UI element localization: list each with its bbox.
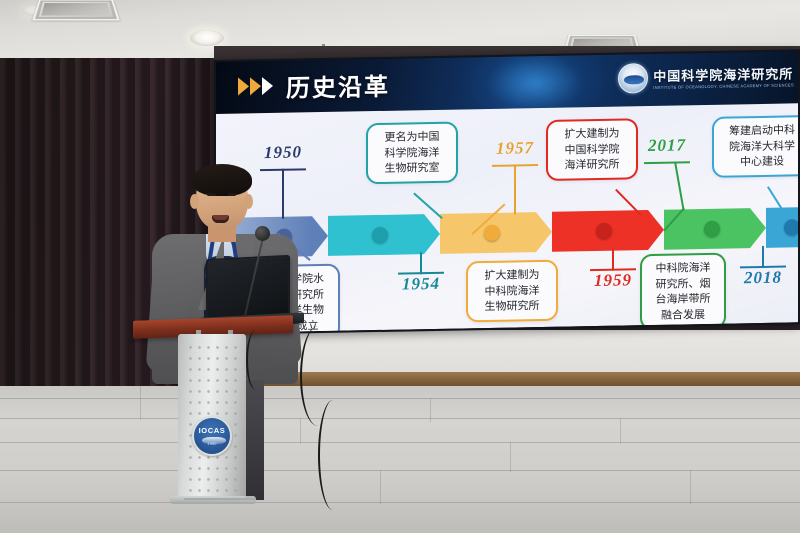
year-label-1957: 1957	[496, 138, 534, 159]
floor	[0, 386, 800, 533]
downlight	[190, 30, 224, 46]
year-connector-bar	[644, 161, 690, 164]
institute-name-cn: 中国科学院海洋研究所	[653, 63, 794, 85]
year-connector-stem	[420, 252, 422, 274]
callout-2017-above: 筹建启动中科 院海洋大科学 中心建设	[712, 115, 798, 178]
speaker-ear-right	[244, 194, 253, 209]
timeline-node	[784, 219, 798, 235]
callout-1957-below: 扩大建制为 中科院海洋 生物研究所	[466, 260, 558, 323]
callout-1957-above: 扩大建制为 中国科学院 海洋研究所	[546, 118, 638, 181]
projection-screen: 历史沿革 中国科学院海洋研究所 INSTITUTE OF OCEANOLOGY,…	[214, 49, 800, 335]
conference-hall-scene: 历史沿革 中国科学院海洋研究所 INSTITUTE OF OCEANOLOGY,…	[0, 0, 800, 533]
year-label-1954: 1954	[402, 274, 440, 295]
slide-title: 历史沿革	[286, 67, 390, 104]
year-label-2017: 2017	[648, 135, 686, 156]
power-cable	[246, 330, 266, 390]
callout-2017-below: 中科院海洋 研究所、烟 台海岸带所 融合发展	[640, 253, 726, 331]
timeline-segment	[766, 207, 798, 248]
slide-body: 1950 1954 1957 1959 2017 2018	[216, 103, 798, 333]
timeline-segment	[552, 210, 648, 252]
power-cable	[318, 400, 348, 510]
speaker-eye-left	[207, 193, 215, 196]
podium-emblem-acronym: IOCAS	[199, 426, 226, 435]
year-connector-stem	[612, 249, 614, 271]
podium-column: IOCAS 1950	[178, 334, 246, 498]
year-connector-stem	[514, 164, 516, 214]
speaker-mouth	[212, 215, 229, 223]
callout-1954: 更名为中国 科学院海洋 生物研究室	[366, 122, 458, 185]
timeline-segment	[328, 214, 424, 256]
year-label-1959: 1959	[594, 270, 632, 291]
ceiling-air-vent	[32, 0, 119, 20]
podium-emblem-year: 1950	[208, 441, 217, 446]
year-connector-stem	[762, 246, 764, 268]
double-chevron-right-icon	[238, 77, 273, 96]
year-label-1950: 1950	[264, 142, 302, 163]
timeline-track	[216, 207, 798, 258]
podium-base	[170, 496, 256, 504]
speaker-eye-right	[228, 193, 236, 196]
laptop-screen	[206, 255, 290, 321]
year-label-2018: 2018	[744, 268, 782, 289]
microphone-head	[255, 226, 270, 241]
institute-seal-icon	[618, 63, 648, 94]
institute-logo: 中国科学院海洋研究所 INSTITUTE OF OCEANOLOGY, CHIN…	[618, 60, 794, 93]
year-connector-stem	[674, 161, 685, 210]
speaker-ear-left	[190, 194, 199, 209]
iocas-wave-seal-icon: IOCAS 1950	[192, 416, 232, 456]
speaker-hair	[192, 164, 252, 196]
